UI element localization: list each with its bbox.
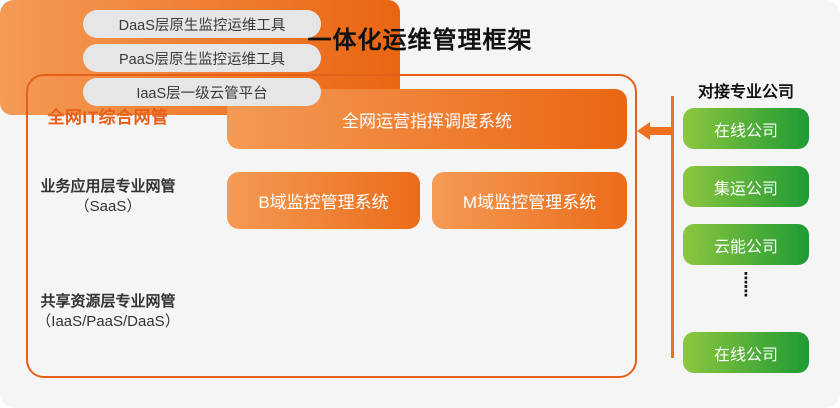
company-box-online-2[interactable]: 在线公司	[683, 332, 809, 373]
layer-label-shared-resource: 共享资源层专业网管 （IaaS/PaaS/DaaS）	[10, 292, 206, 333]
company-box-online-1[interactable]: 在线公司	[683, 108, 809, 149]
layer-label-line1: 业务应用层专业网管	[10, 177, 206, 197]
company-box-yunneng[interactable]: 云能公司	[683, 224, 809, 265]
tool-pill-daas[interactable]: DaaS层原生监控运维工具	[83, 10, 321, 38]
layer-label-line2: （SaaS）	[10, 197, 206, 217]
company-box-jiyun[interactable]: 集运公司	[683, 166, 809, 207]
block-b-domain-monitoring-system[interactable]: B域监控管理系统	[227, 172, 420, 229]
layer-label-line2: （IaaS/PaaS/DaaS）	[10, 312, 206, 332]
tool-pill-paas[interactable]: PaaS层原生监控运维工具	[83, 44, 321, 72]
block-m-domain-monitoring-system[interactable]: M域监控管理系统	[432, 172, 627, 229]
vertical-ellipsis-icon: ⋮ ⋮	[683, 272, 809, 298]
layer-label-it-comprehensive: 全网IT综合网管	[10, 107, 206, 130]
arrow-left-icon	[637, 122, 673, 140]
layer-label-line1: 共享资源层专业网管	[10, 292, 206, 312]
diagram-canvas: 一体化运维管理框架 全网IT综合网管 业务应用层专业网管 （SaaS） 共享资源…	[0, 0, 840, 408]
ellipsis-bottom: ⋮	[683, 285, 809, 298]
tool-pill-iaas[interactable]: IaaS层一级云管平台	[83, 78, 321, 106]
right-panel-title: 对接专业公司	[683, 78, 809, 102]
layer-label-saas: 业务应用层专业网管 （SaaS）	[10, 177, 206, 218]
layer-label-line1: 全网IT综合网管	[10, 107, 206, 130]
